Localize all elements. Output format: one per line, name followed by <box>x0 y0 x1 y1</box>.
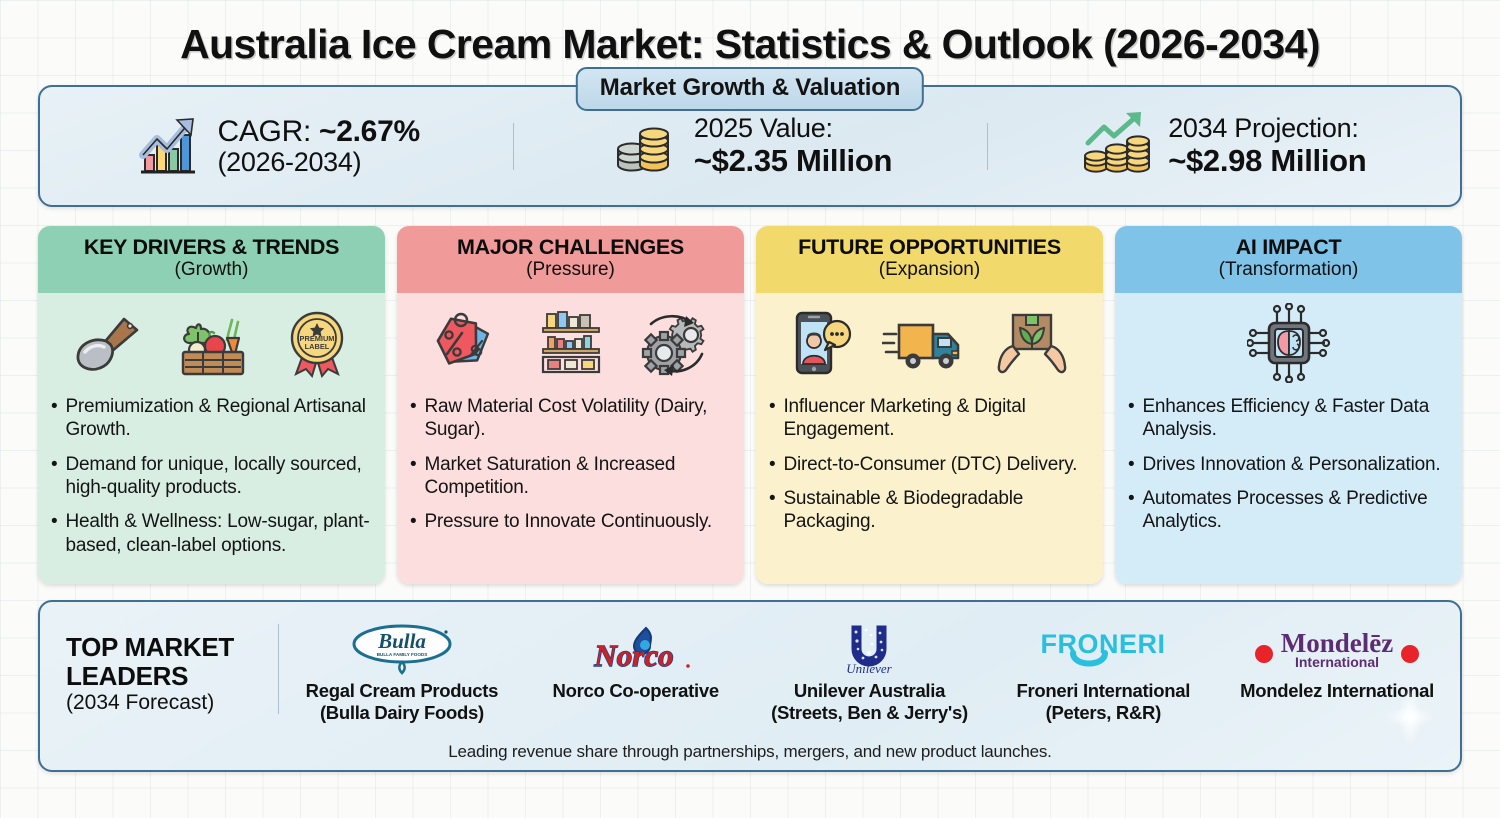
bulla-logo-text: Bulla <box>377 629 426 653</box>
bullet-dot-icon: • <box>1128 487 1134 534</box>
bullet-text: Health & Wellness: Low-sugar, plant-base… <box>65 510 372 557</box>
norco-logo-text: Norco <box>593 638 673 673</box>
norco-logo: Norco <box>566 626 706 674</box>
card-future-opportunities: FUTURE OPPORTUNITIES (Expansion) <box>756 226 1103 584</box>
coin-stack-icon <box>608 109 680 184</box>
stat-2025-text: 2025 Value: ~$2.35 Million <box>694 114 892 178</box>
card-major-challenges-title: MAJOR CHALLENGES <box>403 235 738 259</box>
ai-brain-chip-icon <box>1247 303 1331 388</box>
bullet-dot-icon: • <box>769 395 775 442</box>
brand-name: Regal Cream Products (Bulla Dairy Foods) <box>289 680 515 724</box>
bullet-dot-icon: • <box>410 453 416 500</box>
bulla-logo: Bulla BULLA FAMILY FOODS <box>341 626 463 674</box>
card-future-opportunities-bullets: •Influencer Marketing & Digital Engageme… <box>769 395 1090 545</box>
card-major-challenges-bullets: •Raw Material Cost Volatility (Dairy, Su… <box>410 395 731 545</box>
card-key-drivers-icons: PREMIUM LABEL <box>51 303 372 387</box>
stat-cagr-value: ~2.67% <box>319 115 420 148</box>
bullet-text: Premiumization & Regional Artisanal Grow… <box>65 395 372 442</box>
bullet-dot-icon: • <box>51 395 57 442</box>
smartphone-influencer-icon <box>789 308 855 383</box>
card-key-drivers-header: KEY DRIVERS & TRENDS (Growth) <box>38 226 385 293</box>
card-key-drivers-bullets: •Premiumization & Regional Artisanal Gro… <box>51 395 372 568</box>
stat-cagr-line2: (2026-2034) <box>217 148 419 178</box>
card-major-challenges: MAJOR CHALLENGES (Pressure) <box>397 226 744 584</box>
list-item: •Market Saturation & Increased Competiti… <box>410 453 731 500</box>
card-key-drivers: KEY DRIVERS & TRENDS (Growth) <box>38 226 385 584</box>
price-tags-icon <box>430 308 506 383</box>
stat-cagr-label: CAGR: <box>217 115 311 148</box>
stat-cagr-line1: CAGR: ~2.67% <box>217 115 419 148</box>
list-item: •Premiumization & Regional Artisanal Gro… <box>51 395 372 442</box>
bullet-dot-icon: • <box>769 453 775 476</box>
category-cards: KEY DRIVERS & TRENDS (Growth) <box>38 226 1462 584</box>
leaders-heading-line2: LEADERS <box>66 662 278 691</box>
gears-cycle-icon <box>638 308 712 383</box>
card-ai-impact-subtitle: (Transformation) <box>1121 259 1456 282</box>
list-item: •Influencer Marketing & Digital Engageme… <box>769 395 1090 442</box>
bullet-dot-icon: • <box>1128 395 1134 442</box>
bullet-text: Direct-to-Consumer (DTC) Delivery. <box>783 453 1077 476</box>
card-major-challenges-subtitle: (Pressure) <box>403 259 738 282</box>
list-item: •Direct-to-Consumer (DTC) Delivery. <box>769 453 1090 476</box>
card-ai-impact-bullets: •Enhances Efficiency & Faster Data Analy… <box>1128 395 1449 545</box>
bullet-text: Automates Processes & Predictive Analyti… <box>1142 487 1449 534</box>
card-key-drivers-title: KEY DRIVERS & TRENDS <box>44 235 379 259</box>
vegetable-crate-icon <box>173 308 253 383</box>
stat-2034-projection: 2034 Projection: ~$2.98 Million <box>987 109 1460 184</box>
bullet-dot-icon: • <box>51 510 57 557</box>
growth-chart-icon <box>133 109 203 184</box>
top-market-leaders-panel: TOP MARKET LEADERS (2034 Forecast) Bulla… <box>38 600 1462 772</box>
list-item: •Drives Innovation & Personalization. <box>1128 453 1449 476</box>
brand-unilever: Unilever Unilever Australia (Streets, Be… <box>753 626 987 724</box>
card-future-opportunities-body: •Influencer Marketing & Digital Engageme… <box>756 293 1103 584</box>
list-item: •Automates Processes & Predictive Analyt… <box>1128 487 1449 534</box>
coins-growth-icon <box>1080 109 1154 184</box>
leaders-heading-sub: (2034 Forecast) <box>66 691 278 715</box>
card-key-drivers-subtitle: (Growth) <box>44 259 379 282</box>
stat-2025-line1: 2025 Value: <box>694 114 892 144</box>
brand-regal-cream: Bulla BULLA FAMILY FOODS Regal Cream Pro… <box>285 626 519 724</box>
brand-name: Froneri International (Peters, R&R) <box>990 680 1216 724</box>
stat-2034-text: 2034 Projection: ~$2.98 Million <box>1168 114 1366 178</box>
bullet-text: Drives Innovation & Personalization. <box>1142 453 1440 476</box>
card-future-opportunities-icons <box>769 303 1090 387</box>
brand-list: Bulla BULLA FAMILY FOODS Regal Cream Pro… <box>279 624 1460 724</box>
svg-text:LABEL: LABEL <box>304 342 329 351</box>
list-item: •Health & Wellness: Low-sugar, plant-bas… <box>51 510 372 557</box>
brand-name: Mondelez International <box>1240 680 1434 702</box>
card-future-opportunities-header: FUTURE OPPORTUNITIES (Expansion) <box>756 226 1103 293</box>
card-ai-impact: AI IMPACT (Transformation) <box>1115 226 1462 584</box>
bullet-dot-icon: • <box>51 453 57 500</box>
list-item: •Demand for unique, locally sourced, hig… <box>51 453 372 500</box>
list-item: •Sustainable & Biodegradable Packaging. <box>769 487 1090 534</box>
list-item: •Raw Material Cost Volatility (Dairy, Su… <box>410 395 731 442</box>
eco-package-hands-icon <box>993 308 1071 383</box>
banner-pill-label: Market Growth & Valuation <box>576 67 924 111</box>
card-major-challenges-header: MAJOR CHALLENGES (Pressure) <box>397 226 744 293</box>
bullet-text: Enhances Efficiency & Faster Data Analys… <box>1142 395 1449 442</box>
ice-cream-scoop-icon <box>71 310 145 381</box>
leaders-footnote: Leading revenue share through partnershi… <box>40 742 1460 770</box>
brand-name: Norco Co-operative <box>553 680 719 702</box>
page-title: Australia Ice Cream Market: Statistics &… <box>0 0 1500 68</box>
brand-froneri: FRONERI Froneri International (Peters, R… <box>986 626 1220 724</box>
card-ai-impact-icons <box>1128 303 1449 387</box>
stat-2025-value: 2025 Value: ~$2.35 Million <box>513 109 986 184</box>
premium-label-badge-icon: PREMIUM LABEL <box>282 308 352 383</box>
bullet-dot-icon: • <box>410 395 416 442</box>
brand-name: Unilever Australia (Streets, Ben & Jerry… <box>757 680 983 724</box>
bullet-dot-icon: • <box>410 510 416 533</box>
bullet-dot-icon: • <box>1128 453 1134 476</box>
bullet-text: Influencer Marketing & Digital Engagemen… <box>783 395 1090 442</box>
list-item: •Pressure to Innovate Continuously. <box>410 510 731 533</box>
stat-cagr: CAGR: ~2.67% (2026-2034) <box>40 109 513 184</box>
brand-norco: Norco Norco Co-operative <box>519 626 753 702</box>
card-key-drivers-body: PREMIUM LABEL •Premiumization & Regional… <box>38 293 385 584</box>
unilever-logo: Unilever <box>814 626 924 674</box>
bulla-logo-sub: BULLA FAMILY FOODS <box>377 652 428 657</box>
card-future-opportunities-subtitle: (Expansion) <box>762 259 1097 282</box>
unilever-logo-sub: Unilever <box>847 661 893 676</box>
brand-mondelez: Mondelēz International Mondelez Internat… <box>1220 626 1454 702</box>
market-growth-banner-wrapper: Market Growth & Valuation CAGR: ~2. <box>38 85 1462 207</box>
card-ai-impact-title: AI IMPACT <box>1121 235 1456 259</box>
bullet-text: Demand for unique, locally sourced, high… <box>65 453 372 500</box>
bullet-text: Market Saturation & Increased Competitio… <box>424 453 731 500</box>
mondelez-logo-sub: International <box>1295 654 1379 670</box>
stat-2025-line2: ~$2.35 Million <box>694 144 892 178</box>
bullet-text: Sustainable & Biodegradable Packaging. <box>783 487 1090 534</box>
top-market-leaders-heading: TOP MARKET LEADERS (2034 Forecast) <box>40 633 278 715</box>
bullet-dot-icon: • <box>769 487 775 534</box>
mondelez-logo: Mondelēz International <box>1247 626 1427 674</box>
stat-2034-line2: ~$2.98 Million <box>1168 144 1366 178</box>
froneri-logo: FRONERI <box>1023 626 1183 674</box>
delivery-truck-icon <box>882 312 966 379</box>
card-ai-impact-header: AI IMPACT (Transformation) <box>1115 226 1462 293</box>
store-shelf-icon <box>533 308 611 383</box>
list-item: •Enhances Efficiency & Faster Data Analy… <box>1128 395 1449 442</box>
stat-cagr-text: CAGR: ~2.67% (2026-2034) <box>217 115 419 178</box>
top-market-leaders-inner: TOP MARKET LEADERS (2034 Forecast) Bulla… <box>40 602 1460 742</box>
leaders-heading-line1: TOP MARKET <box>66 633 278 662</box>
card-major-challenges-icons <box>410 303 731 387</box>
bullet-text: Raw Material Cost Volatility (Dairy, Sug… <box>424 395 731 442</box>
card-future-opportunities-title: FUTURE OPPORTUNITIES <box>762 235 1097 259</box>
stat-2034-line1: 2034 Projection: <box>1168 114 1366 144</box>
card-major-challenges-body: •Raw Material Cost Volatility (Dairy, Su… <box>397 293 744 584</box>
card-ai-impact-body: •Enhances Efficiency & Faster Data Analy… <box>1115 293 1462 584</box>
bullet-text: Pressure to Innovate Continuously. <box>424 510 712 533</box>
